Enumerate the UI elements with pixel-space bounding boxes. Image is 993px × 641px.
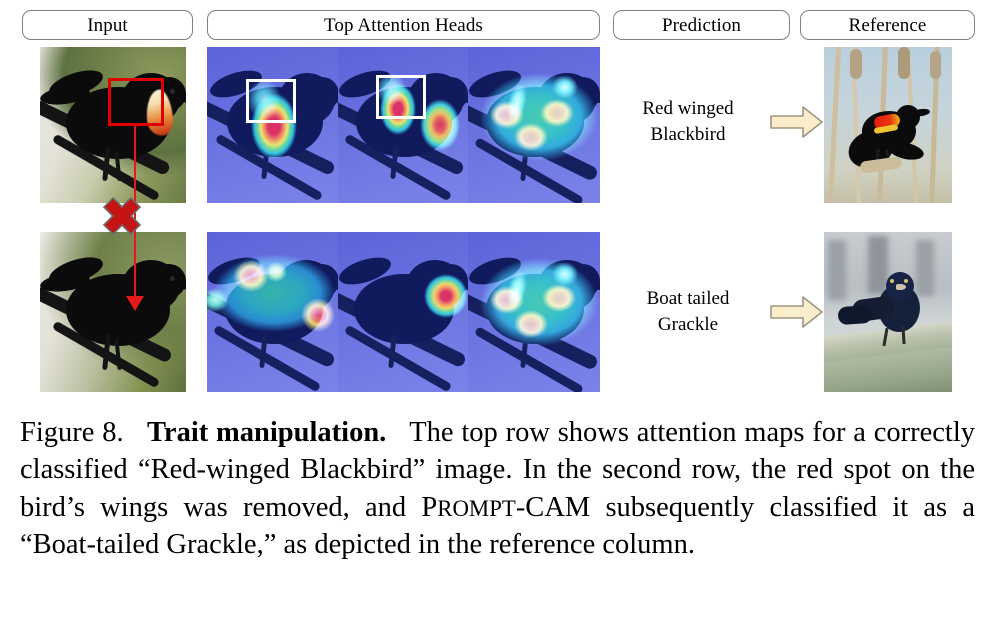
- attention-head-row1-3: [468, 47, 600, 203]
- attention-head-row1-2: [338, 47, 468, 203]
- trait-arrow-head: [126, 296, 144, 311]
- right-arrow-icon-row-1: [770, 105, 824, 139]
- attention-hotspot-3: [514, 310, 548, 338]
- attention-head-row2-1: [207, 232, 338, 392]
- input-image-row-2: [40, 232, 186, 392]
- attention-hotspot-secondary: [420, 99, 460, 151]
- prediction-line-1: Red winged: [613, 96, 763, 122]
- trait-annotation-box: [108, 78, 164, 126]
- column-header-attention-heads: Top Attention Heads: [207, 10, 600, 40]
- prediction-line-2: Grackle: [613, 312, 763, 338]
- attention-hotspot-warm: [265, 262, 287, 282]
- x-mark-icon: [100, 194, 144, 238]
- column-header-input: Input: [22, 10, 193, 40]
- attention-hotspot-tail: [301, 298, 335, 332]
- prediction-line-1: Boat tailed: [613, 286, 763, 312]
- figure-caption: Figure 8. Trait manipulation. The top ro…: [20, 414, 975, 564]
- right-arrow-icon-row-2: [770, 295, 824, 329]
- column-header-reference: Reference: [800, 10, 975, 40]
- figure-panel: Input Top Attention Heads Prediction Ref…: [0, 0, 993, 641]
- figure-bold-title: Trait manipulation.: [147, 417, 386, 448]
- trait-arrow-line-lower: [134, 232, 136, 304]
- attention-head-row1-1: [207, 47, 338, 203]
- attention-highlight-box: [246, 79, 296, 123]
- prediction-text-row-1: Red winged Blackbird: [613, 96, 763, 148]
- bird-silhouette: [40, 232, 186, 392]
- attention-head-row2-3: [468, 232, 600, 392]
- attention-hotspot-back: [233, 260, 269, 292]
- figure-number: Figure 8.: [20, 417, 124, 448]
- reference-image-row-1: [824, 47, 952, 203]
- prediction-line-2: Blackbird: [613, 122, 763, 148]
- attention-hotspot-head: [552, 262, 578, 286]
- reference-image-row-2: [824, 232, 952, 392]
- attention-head-row2-2: [338, 232, 468, 392]
- prediction-text-row-2: Boat tailed Grackle: [613, 286, 763, 338]
- column-header-prediction: Prediction: [613, 10, 790, 40]
- attention-hotspot-2: [542, 284, 576, 312]
- method-name: PROMPT-CAM: [421, 492, 590, 523]
- attention-hotspot-2: [540, 99, 574, 127]
- attention-hotspot-head: [552, 75, 578, 99]
- attention-highlight-box: [376, 75, 426, 119]
- attention-hotspot-3: [514, 123, 548, 151]
- attention-hotspot-head: [424, 274, 468, 318]
